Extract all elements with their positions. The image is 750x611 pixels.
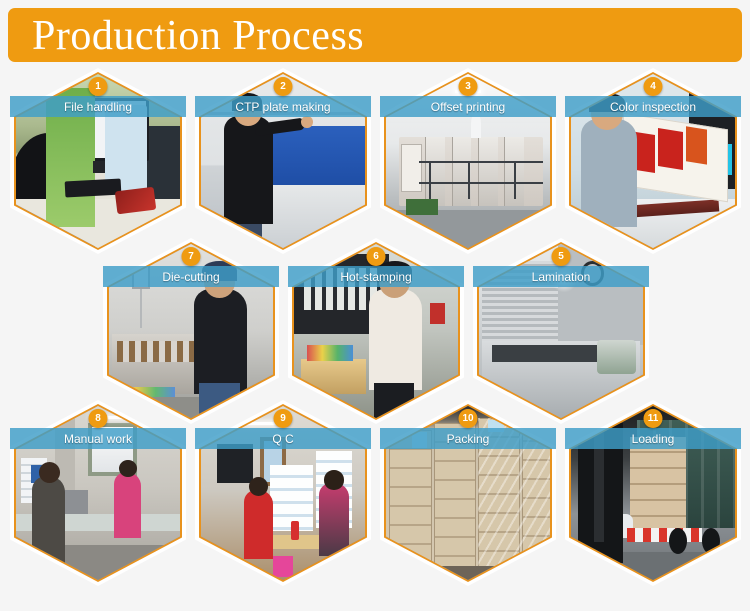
photo-detail [430, 303, 445, 324]
photo-detail [669, 528, 687, 554]
photo-detail [434, 423, 477, 569]
process-step-6[interactable]: Hot-stamping6 [288, 238, 464, 424]
step-number-badge: 11 [644, 409, 663, 428]
photo-detail [301, 116, 312, 128]
photo-detail [630, 437, 686, 527]
process-step-11[interactable]: Loading11 [565, 400, 741, 586]
process-step-10[interactable]: Packing10 [380, 400, 556, 586]
step-number-badge: 7 [182, 247, 201, 266]
photo-detail [273, 556, 293, 577]
photo-detail [369, 289, 421, 390]
process-step-3[interactable]: Offset printing3 [380, 68, 556, 254]
production-process-infographic: Production Process File handling1CTP pla… [0, 0, 750, 611]
process-step-4[interactable]: Color inspection4 [565, 68, 741, 254]
photo-detail [93, 161, 104, 173]
step-number-badge: 10 [459, 409, 478, 428]
photo-detail [140, 289, 142, 327]
process-step-5[interactable]: Lamination5 [473, 238, 649, 424]
step-number-badge: 8 [89, 409, 108, 428]
photo-detail [46, 88, 95, 227]
photo-detail [389, 430, 432, 569]
photo-detail [514, 161, 516, 199]
photo-detail [324, 470, 344, 489]
photo-detail [307, 345, 353, 361]
photo-detail [114, 472, 140, 538]
step-number-badge: 9 [274, 409, 293, 428]
photo-detail [291, 521, 299, 540]
step-number-badge: 6 [367, 247, 386, 266]
photo-detail [627, 528, 702, 542]
step-number-badge: 5 [552, 247, 571, 266]
photo-detail [686, 126, 707, 164]
photo-detail [406, 199, 439, 215]
photo-detail [468, 161, 470, 199]
photo-detail [378, 261, 412, 280]
photo-detail [419, 182, 544, 184]
photo-detail [581, 119, 637, 227]
process-step-9[interactable]: Q C9 [195, 400, 371, 586]
step-number-badge: 3 [459, 77, 478, 96]
photo-detail [492, 345, 607, 362]
photo-detail [319, 483, 349, 556]
photo-detail [65, 179, 121, 198]
photo-detail [201, 112, 365, 115]
step-number-badge: 4 [644, 77, 663, 96]
photo-detail [412, 432, 427, 448]
photo-detail [429, 161, 431, 199]
process-step-1[interactable]: File handling1 [10, 68, 186, 254]
photo-detail [581, 261, 604, 285]
photo-detail [39, 462, 60, 483]
photo-detail [658, 128, 683, 170]
photo-detail [244, 490, 274, 560]
photo-detail [194, 289, 246, 393]
photo-detail [115, 187, 157, 214]
step-number-badge: 1 [89, 77, 108, 96]
photo-detail [551, 265, 577, 293]
photo-detail [571, 552, 735, 580]
photo-detail [597, 340, 636, 375]
process-step-7[interactable]: Die-cutting7 [103, 238, 279, 424]
step-number-badge: 2 [274, 77, 293, 96]
photo-detail [478, 137, 498, 207]
photo-detail [419, 161, 544, 163]
photo-detail [471, 114, 481, 138]
process-step-8[interactable]: Manual work8 [10, 400, 186, 586]
photo-detail [386, 566, 550, 580]
photo-detail [117, 341, 202, 362]
process-step-2[interactable]: CTP plate making2 [195, 68, 371, 254]
photo-detail [62, 490, 88, 514]
process-hex-grid: File handling1CTP plate making2Offset pr… [0, 0, 750, 611]
photo-detail [401, 144, 422, 193]
photo-detail [217, 444, 253, 482]
